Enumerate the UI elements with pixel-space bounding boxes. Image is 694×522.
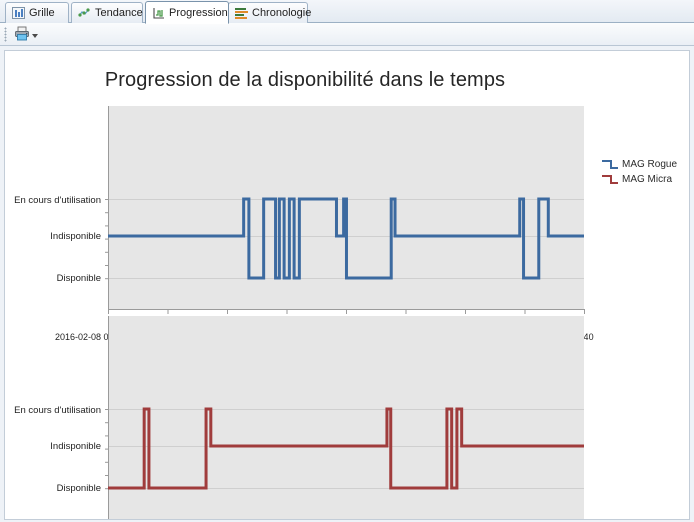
chart-panel: Progression de la disponibilité dans le … [4, 50, 690, 520]
tab-label: Chronologie [252, 7, 311, 19]
tab-tendance[interactable]: Tendance [71, 2, 143, 23]
chart-legend: MAG Rogue MAG Micra [602, 157, 690, 187]
tab-strip: Grille Tendance Progression [0, 0, 694, 23]
legend-label: MAG Micra [622, 174, 672, 185]
chevron-down-icon [32, 34, 38, 38]
print-icon [14, 26, 30, 44]
series-line-mag-micra [5, 261, 595, 520]
trend-icon [78, 7, 91, 19]
legend-swatch-blue [602, 160, 618, 169]
legend-item-mag-micra[interactable]: MAG Micra [602, 172, 690, 187]
progression-icon [152, 7, 165, 19]
application-window: Grille Tendance Progression [0, 0, 694, 522]
chronology-icon [235, 7, 248, 19]
tab-chronologie[interactable]: Chronologie [228, 2, 308, 23]
tab-grille[interactable]: Grille [5, 2, 69, 23]
plot-mag-micra: En cours d'utilisation Indisponible Disp… [5, 261, 595, 516]
tab-label: Grille [29, 7, 55, 19]
toolbar [0, 23, 694, 46]
print-button[interactable] [12, 25, 40, 44]
legend-swatch-red [602, 175, 618, 184]
legend-label: MAG Rogue [622, 159, 677, 170]
tab-label: Tendance [95, 7, 143, 19]
toolbar-grip[interactable] [4, 27, 7, 42]
tab-progression[interactable]: Progression [145, 1, 229, 24]
tab-label: Progression [169, 7, 228, 19]
grid-icon [12, 7, 25, 19]
legend-item-mag-rogue[interactable]: MAG Rogue [602, 157, 690, 172]
